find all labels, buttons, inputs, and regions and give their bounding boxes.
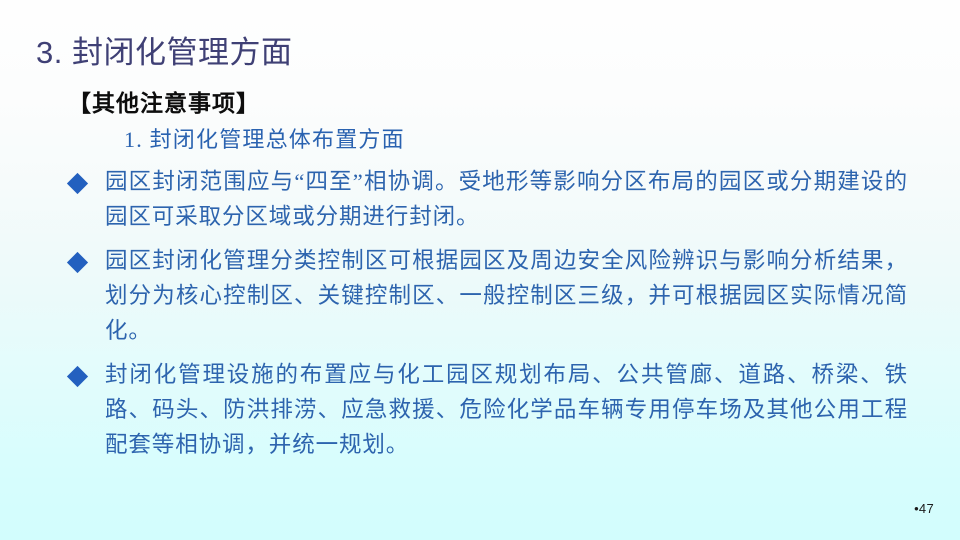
diamond-bullet-icon [67, 366, 88, 387]
presentation-slide: 3. 封闭化管理方面 【其他注意事项】 1. 封闭化管理总体布置方面 园区封闭范… [0, 0, 960, 540]
list-item-text: 园区封闭化管理分类控制区可根据园区及周边安全风险辨识与影响分析结果，划分为核心控… [105, 243, 908, 348]
sub-heading: 1. 封闭化管理总体布置方面 [124, 124, 960, 156]
section-heading: 【其他注意事项】 [68, 88, 960, 120]
diamond-bullet-icon [67, 173, 88, 194]
slide-body: 【其他注意事项】 1. 封闭化管理总体布置方面 园区封闭范围应与“四至”相协调。… [0, 88, 960, 471]
bullet-list: 园区封闭范围应与“四至”相协调。受地形等影响分区布局的园区或分期建设的园区可采取… [0, 164, 960, 462]
list-item: 园区封闭范围应与“四至”相协调。受地形等影响分区布局的园区或分期建设的园区可采取… [0, 164, 960, 234]
list-item-text: 封闭化管理设施的布置应与化工园区规划布局、公共管廊、道路、桥梁、铁路、码头、防洪… [105, 357, 908, 462]
page-title: 3. 封闭化管理方面 [36, 33, 292, 73]
list-item: 园区封闭化管理分类控制区可根据园区及周边安全风险辨识与影响分析结果，划分为核心控… [0, 243, 960, 348]
list-item-text: 园区封闭范围应与“四至”相协调。受地形等影响分区布局的园区或分期建设的园区可采取… [105, 164, 908, 234]
diamond-bullet-icon [67, 252, 88, 273]
list-item: 封闭化管理设施的布置应与化工园区规划布局、公共管廊、道路、桥梁、铁路、码头、防洪… [0, 357, 960, 462]
page-number: •47 [914, 501, 934, 517]
